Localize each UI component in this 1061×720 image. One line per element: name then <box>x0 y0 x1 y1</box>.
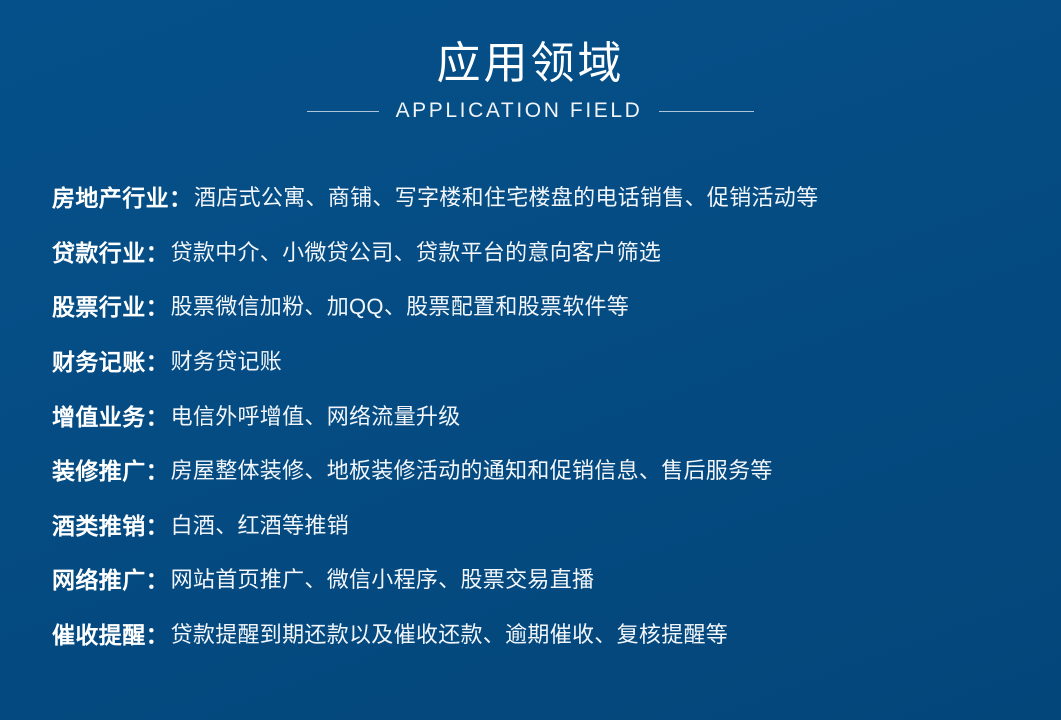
field-separator: ： <box>146 620 169 650</box>
field-row: 股票行业：股票微信加粉、加QQ、股票配置和股票软件等 <box>52 280 1052 335</box>
field-label: 增值业务 <box>52 402 146 432</box>
field-value: 白酒、红酒等推销 <box>171 511 349 541</box>
field-value: 贷款中介、小微贷公司、贷款平台的意向客户筛选 <box>171 238 662 268</box>
field-label: 股票行业 <box>52 292 146 322</box>
field-value: 贷款提醒到期还款以及催收还款、逾期催收、复核提醒等 <box>171 620 729 650</box>
field-value: 网站首页推广、微信小程序、股票交易直播 <box>171 565 595 595</box>
divider-line-right-icon <box>659 111 754 112</box>
field-row: 房地产行业：酒店式公寓、商铺、写字楼和住宅楼盘的电话销售、促销活动等 <box>52 171 1052 226</box>
field-label: 房地产行业 <box>52 183 169 213</box>
field-separator: ： <box>146 565 169 595</box>
page-title: 应用领域 <box>0 38 1061 90</box>
field-row: 财务记账：财务贷记账 <box>52 335 1052 390</box>
field-label: 财务记账 <box>52 347 146 377</box>
field-row: 网络推广：网站首页推广、微信小程序、股票交易直播 <box>52 553 1052 608</box>
page-subtitle: APPLICATION FIELD <box>396 98 643 124</box>
divider-line-left-icon <box>307 111 379 112</box>
field-value: 股票微信加粉、加QQ、股票配置和股票软件等 <box>171 292 630 322</box>
field-row: 装修推广：房屋整体装修、地板装修活动的通知和促销信息、售后服务等 <box>52 444 1052 499</box>
field-label: 装修推广 <box>52 456 146 486</box>
field-value: 财务贷记账 <box>171 347 283 377</box>
field-value: 房屋整体装修、地板装修活动的通知和促销信息、售后服务等 <box>171 456 773 486</box>
field-separator: ： <box>146 511 169 541</box>
field-row: 催收提醒：贷款提醒到期还款以及催收还款、逾期催收、复核提醒等 <box>52 608 1052 663</box>
field-value: 电信外呼增值、网络流量升级 <box>171 402 461 432</box>
field-separator: ： <box>146 456 169 486</box>
field-separator: ： <box>169 183 192 213</box>
field-value: 酒店式公寓、商铺、写字楼和住宅楼盘的电话销售、促销活动等 <box>194 183 818 213</box>
field-list: 房地产行业：酒店式公寓、商铺、写字楼和住宅楼盘的电话销售、促销活动等贷款行业：贷… <box>52 171 1052 662</box>
field-separator: ： <box>146 402 169 432</box>
field-label: 网络推广 <box>52 565 146 595</box>
field-row: 贷款行业：贷款中介、小微贷公司、贷款平台的意向客户筛选 <box>52 226 1052 281</box>
field-separator: ： <box>146 292 169 322</box>
slide-header: 应用领域 APPLICATION FIELD <box>0 38 1061 126</box>
field-row: 增值业务：电信外呼增值、网络流量升级 <box>52 389 1052 444</box>
field-separator: ： <box>146 347 169 377</box>
field-label: 催收提醒 <box>52 620 146 650</box>
field-label: 贷款行业 <box>52 238 146 268</box>
field-separator: ： <box>146 238 169 268</box>
application-field-slide: 应用领域 APPLICATION FIELD 房地产行业：酒店式公寓、商铺、写字… <box>0 0 1061 720</box>
subtitle-row: APPLICATION FIELD <box>0 96 1061 126</box>
field-label: 酒类推销 <box>52 511 146 541</box>
field-row: 酒类推销：白酒、红酒等推销 <box>52 499 1052 554</box>
